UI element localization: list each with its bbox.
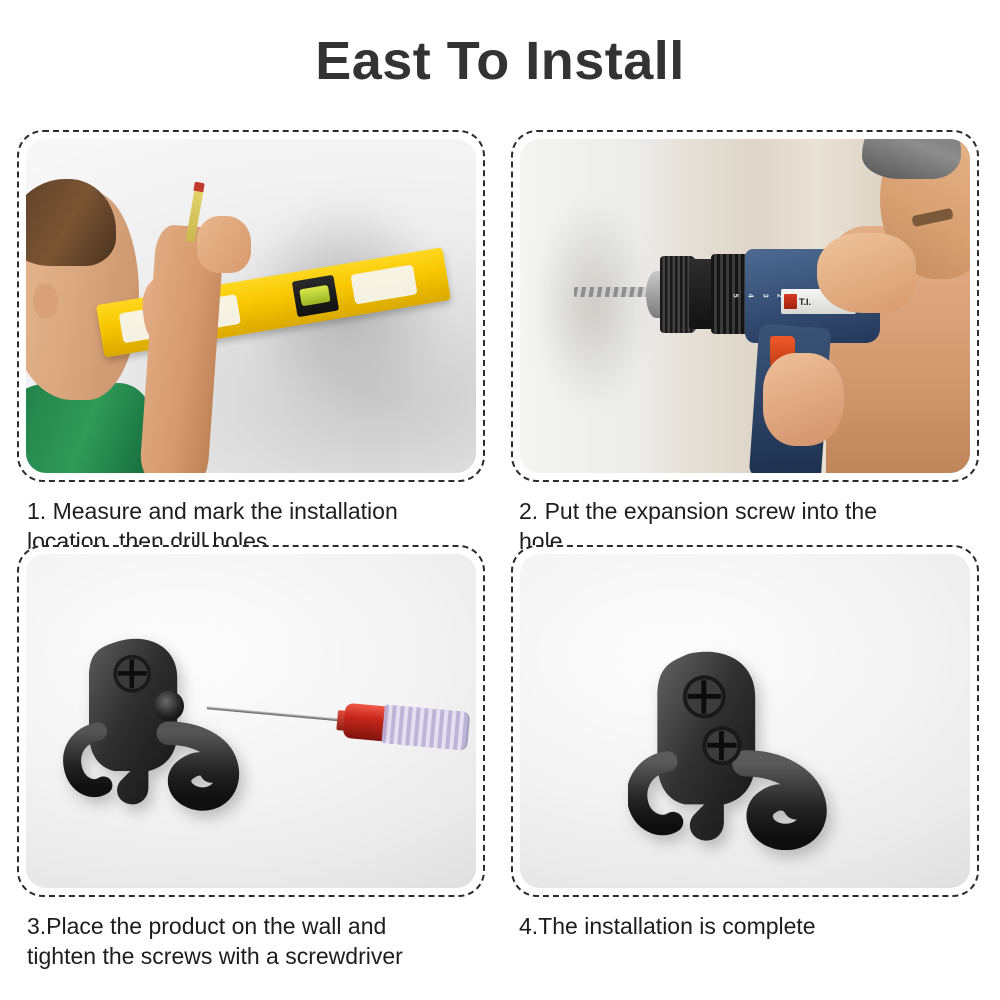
brand-mark-icon	[784, 294, 797, 309]
level-window	[351, 264, 418, 304]
page-title: East To Install	[0, 34, 1000, 88]
photo-measure-and-mark	[26, 139, 476, 473]
step-caption-4: 4.The installation is complete	[511, 911, 981, 941]
screw-slot	[701, 680, 706, 713]
screw-slot	[130, 660, 135, 689]
person-lower-hand	[763, 353, 844, 447]
screwdriver-shaft	[207, 707, 345, 722]
screw-slot	[719, 731, 724, 760]
step-card-3: 3.Place the product on the wall and tigh…	[17, 545, 487, 972]
person-hair	[862, 139, 961, 179]
wall-hook-product	[628, 644, 853, 849]
person-fist	[197, 216, 251, 273]
step-card-1: 1. Measure and mark the installation loc…	[17, 130, 487, 557]
drill-brand-text: T.I.	[799, 297, 811, 307]
steps-grid: 1. Measure and mark the installation loc…	[0, 130, 1000, 990]
person-ear	[33, 283, 58, 320]
photo-frame-2: 1 2 3 4 5 T.I.	[511, 130, 979, 482]
screw-head-bottom	[154, 691, 183, 721]
photo-frame-4	[511, 545, 979, 897]
photo-frame-3	[17, 545, 485, 897]
torque-number: 3	[762, 294, 769, 298]
photo-drill-hole: 1 2 3 4 5 T.I.	[520, 139, 970, 473]
photo-installation-complete	[520, 554, 970, 888]
step-caption-3: 3.Place the product on the wall and tigh…	[17, 911, 487, 972]
torque-number: 4	[747, 294, 754, 298]
torque-number: 5	[732, 294, 739, 298]
level-bubble-vial	[291, 274, 339, 317]
hook-arm-right	[745, 764, 813, 838]
wall-shadow	[534, 199, 651, 433]
photo-frame-1	[17, 130, 485, 482]
step-card-4: 4.The installation is complete	[511, 545, 981, 941]
drill-bit	[574, 287, 651, 297]
hook-shape-icon	[628, 644, 853, 849]
screwdriver-handle-clear	[382, 705, 471, 751]
step-card-2: 1 2 3 4 5 T.I. 2. Put the expansion scre…	[511, 130, 981, 557]
photo-tighten-screws	[26, 554, 476, 888]
person-upper-hand	[817, 233, 916, 313]
